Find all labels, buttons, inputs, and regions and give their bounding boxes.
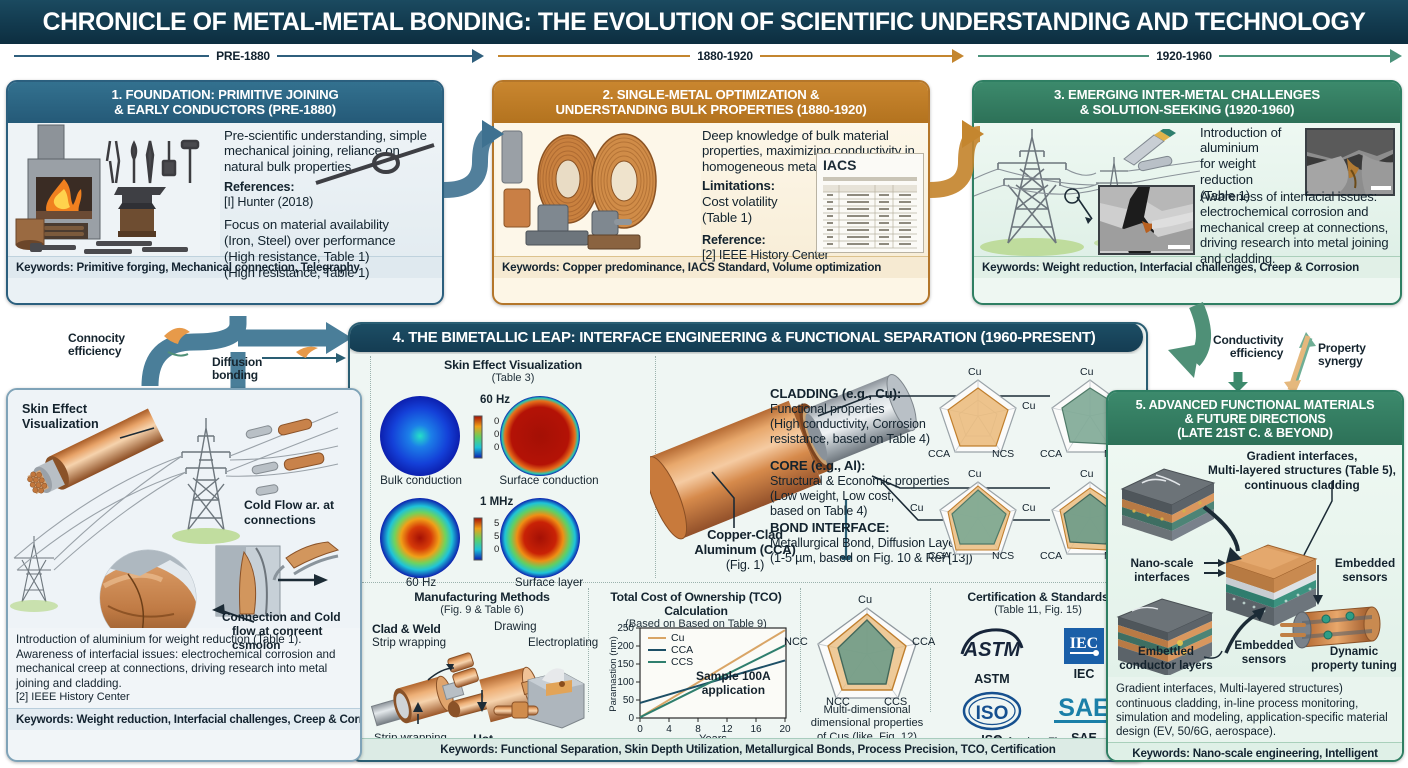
conn-lbl-l2: efficiency [68, 345, 125, 358]
panel5-header: 5. ADVANCED FUNCTIONAL MATERIALS & FUTUR… [1108, 392, 1402, 445]
iron-rod-ring-icon [314, 141, 444, 201]
panel2-title-line2: UNDERSTANDING BULK PROPERTIES (1880-1920… [500, 103, 922, 118]
panel3-intro-l2: aluminium [1200, 140, 1282, 156]
timeline-line [760, 55, 952, 57]
panel4-body: Skin Effect Visualization (Table 3) [350, 354, 1146, 736]
panel1-focus-l4: (High resistance, Table 1) [224, 265, 442, 281]
panel6-skin-l2: Visualization [22, 417, 132, 432]
iec-logo-icon: IEC [1062, 626, 1106, 666]
astm-logo-icon: ASTM [958, 626, 1026, 666]
aluminium-wire-icon [1120, 129, 1190, 177]
panel6-body-l4: joining and cladding. [16, 677, 352, 692]
panel5-label-nano-scale: Nano-scale interfaces [1120, 557, 1204, 585]
panel5-title-line3: (LATE 21ST C. & BEYOND) [1114, 426, 1396, 440]
panel1-header: 1. FOUNDATION: PRIMITIVE JOINING & EARLY… [8, 82, 442, 123]
radar-3-axis-cu-top: Cu [968, 468, 981, 480]
conn-lbl-l2: synergy [1318, 355, 1366, 368]
tco-annotation: Sample 100A application [696, 670, 771, 698]
radar-chart-3: Cu Cu CCA NCS [930, 474, 1026, 562]
radar-chart-1: Cu CCA NCS [930, 372, 1026, 460]
panel6-label-connection-cold-flow: Connection and Cold flow at conreent csm… [222, 610, 362, 652]
timeline-label: 1880-1920 [690, 49, 760, 63]
svg-text:250: 250 [617, 623, 634, 634]
multidim-cap-l1: Multi-dimensional [802, 704, 932, 717]
manufacturing-subtitle: (Fig. 9 & Table 6) [376, 604, 588, 616]
tco-annotation-l2: application [696, 684, 771, 698]
colorbar-2-tick-1: 5 [494, 531, 499, 542]
svg-text:Paramastion (nm): Paramastion (nm) [608, 636, 619, 712]
timeline-band: PRE-1880 1880-1920 1920-1960 [0, 44, 1408, 68]
sem-micrograph-corrosion-1 [1305, 128, 1395, 196]
panel5-emb-l1: Embedded [1226, 639, 1302, 653]
timeline-segment-1: PRE-1880 [14, 48, 484, 64]
panel3-intro-l1: Introduction of [1200, 125, 1282, 141]
panel6-conn-l2: flow at conreent csmoion [222, 624, 362, 652]
certification-badges: ASTM ASTM IEC IEC [946, 626, 1130, 747]
panel1-title-line1: 1. FOUNDATION: PRIMITIVE JOINING [14, 88, 436, 103]
iacs-label: IACS [817, 154, 923, 173]
panel3-awareness-text: Awareness of interfacial issues: electro… [1200, 189, 1396, 267]
panel3-intro-l4: reduction [1200, 172, 1282, 188]
panel2-title-line1: 2. SINGLE-METAL OPTIMIZATION & [500, 88, 922, 103]
radar-1-svg [930, 372, 1026, 460]
svg-text:ISO: ISO [976, 703, 1009, 724]
skin-caption-60hz: 60 Hz [376, 576, 466, 589]
timeline-arrow-icon [952, 49, 964, 63]
panel6-label-skin-effect: Skin Effect Visualization [22, 402, 132, 432]
svg-text:50: 50 [623, 695, 635, 706]
radar-4-axis-cca: CCA [1040, 550, 1062, 562]
multidim-axis-cu: Cu [858, 594, 872, 606]
page-title-bar: CHRONICLE OF METAL-METAL BONDING: THE EV… [0, 0, 1408, 44]
multidim-radar-svg [806, 598, 928, 706]
connector-label-diffusion-bonding: Diffusion bonding [212, 356, 262, 383]
panel5-body-text: Gradient interfaces, Multi-layered struc… [1108, 677, 1402, 742]
panel-emerging-inter-metal-challenges: 3. EMERGING INTER-METAL CHALLENGES & SOL… [972, 80, 1402, 305]
multidim-axis-cca: CCA [912, 636, 935, 648]
sem-micrograph-corrosion-2 [1098, 185, 1195, 255]
radar-3-svg [930, 474, 1026, 562]
radar-2-axis-cca: CCA [1040, 448, 1062, 460]
connector-label-conductivity-efficiency-right: Conductivity efficiency [1213, 334, 1283, 361]
panel3-header: 3. EMERGING INTER-METAL CHALLENGES & SOL… [974, 82, 1400, 123]
panel5-body: Gradient interfaces, Multi-layered struc… [1108, 445, 1402, 677]
panel5-label-embedded-sensors-right: Embedded sensors [1326, 557, 1404, 585]
panel-single-metal-optimization: 2. SINGLE-METAL OPTIMIZATION & UNDERSTAN… [492, 80, 930, 305]
timeline-line [498, 55, 690, 57]
panel4-divider-vertical-3 [588, 588, 589, 712]
radar-2-axis-cu-left: Cu [1022, 400, 1035, 412]
panel-advanced-functional-materials: 5. ADVANCED FUNCTIONAL MATERIALS & FUTUR… [1106, 390, 1404, 762]
panel4-divider-vertical-5 [930, 588, 931, 712]
panel4-keywords: Keywords: Functional Separation, Skin De… [350, 738, 1146, 760]
blacksmith-forge-illustration [10, 123, 220, 256]
timeline-line [978, 55, 1149, 57]
svg-text:IEC: IEC [1070, 635, 1098, 652]
panel6-body-ref: [2] IEEE History Center [16, 691, 352, 705]
timeline-label: 1920-1960 [1149, 49, 1219, 63]
panel5-nano-l1: Nano-scale [1120, 557, 1204, 571]
panel5-keywords-l1: Keywords: Nano-scale engineering, Intell… [1116, 747, 1394, 762]
panel6-skin-l1: Skin Effect [22, 402, 132, 417]
radar-3-axis-cca: CCA [928, 550, 950, 562]
panel5-embcond-l2: conductor layers [1114, 659, 1218, 673]
svg-text:4: 4 [666, 724, 672, 735]
manufacturing-section: Manufacturing Methods (Fig. 9 & Table 6) [376, 590, 588, 616]
panel5-emb-l2: sensors [1226, 653, 1302, 667]
colorbar-1-tick-2: 0 [494, 442, 499, 453]
svg-text:ASTM: ASTM [963, 639, 1022, 661]
conn-lbl-l1: Conductivity [1213, 334, 1283, 347]
tco-annotation-l1: Sample 100A [696, 670, 771, 684]
timeline-label: PRE-1880 [209, 49, 277, 63]
sem-image-1 [1307, 130, 1395, 196]
conn-lbl-l2: efficiency [1213, 347, 1283, 360]
panel-bimetallic-leap: 4. THE BIMETALLIC LEAP: INTERFACE ENGINE… [348, 322, 1148, 762]
skin-effect-section: Skin Effect Visualization (Table 3) [378, 358, 648, 384]
svg-text:16: 16 [750, 724, 762, 735]
panel3-title-line1: 3. EMERGING INTER-METAL CHALLENGES [980, 88, 1394, 103]
panel4-divider-vertical-1 [370, 356, 371, 578]
conn-lbl-l1: Diffusion [212, 356, 262, 369]
panel5-label-dynamic-tuning: Dynamic property tuning [1304, 645, 1404, 672]
panel4-divider-vertical-4 [800, 588, 801, 712]
panel1-title-line2: & EARLY CONDUCTORS (PRE-1880) [14, 103, 436, 118]
radar-1-axis-cca: CCA [928, 448, 950, 460]
timeline-arrow-icon [472, 49, 484, 63]
panel-skin-effect-cold-flow: Skin Effect Visualization Cold Flow ar. … [6, 388, 362, 762]
multidim-axis-ncc-left: NCC [784, 636, 808, 648]
timeline-line [14, 55, 209, 57]
copper-coil-generator-illustration [496, 123, 701, 256]
mfg-label-strip-wrapping: Strip wrapping [372, 636, 446, 649]
colorbar-1-tick-1: 0 [494, 429, 499, 440]
panel5-keywords: Keywords: Nano-scale engineering, Intell… [1108, 742, 1402, 762]
panel3-body: Introduction of aluminium for weight red… [974, 123, 1400, 256]
panel1-body: Pre-scientific understanding, simple mec… [8, 123, 442, 256]
conn-lbl-l1: Property [1318, 342, 1366, 355]
radar-1-axis-cu: Cu [968, 366, 981, 378]
panel6-body-l3: mechanical creep at connections, driving… [16, 662, 352, 677]
panel3-title-line2: & SOLUTION-SEEKING (1920-1960) [980, 103, 1394, 118]
svg-text:Cu: Cu [671, 632, 685, 644]
panel-foundation-primitive-joining: 1. FOUNDATION: PRIMITIVE JOINING & EARLY… [6, 80, 444, 305]
page-title: CHRONICLE OF METAL-METAL BONDING: THE EV… [43, 8, 1366, 37]
svg-text:200: 200 [617, 641, 634, 652]
skin-effect-subtitle: (Table 3) [378, 372, 648, 384]
panel5-emb-r-l2: sensors [1326, 571, 1404, 585]
conn-lbl-l1: Connocity [68, 332, 125, 345]
multidim-cap-l2: dimensional properties [802, 717, 932, 730]
panel1-focus-l1: Focus on material availability [224, 217, 442, 233]
radar-4-axis-cu-left: Cu [1022, 502, 1035, 514]
timeline-line [277, 55, 472, 57]
panel2-body: Deep knowledge of bulk material properti… [494, 123, 928, 256]
svg-text:SAE: SAE [1058, 694, 1109, 722]
svg-text:CCS: CCS [671, 656, 693, 668]
svg-text:0: 0 [628, 713, 634, 724]
panel5-dyn-l2: property tuning [1304, 659, 1404, 673]
tco-title: Total Cost of Ownership (TCO) Calculatio… [596, 590, 796, 618]
iso-logo-icon: ISO [961, 690, 1023, 732]
conn-lbl-l2: bonding [212, 369, 262, 382]
panel6-keywords: Keywords: Weight reduction, Interfacial … [8, 708, 360, 730]
panel5-label-embedded-sensors: Embedded sensors [1226, 639, 1302, 666]
panel6-cold-l2: connections [244, 513, 360, 528]
multidim-radar-chart: Cu CCA CCS NCC NCC [806, 598, 928, 706]
svg-text:0: 0 [637, 724, 643, 735]
panel6-label-cold-flow: Cold Flow ar. at connections [244, 498, 360, 527]
panel5-label-embedded-conductor-layers: Embettled conductor layers [1114, 645, 1218, 672]
panel5-embcond-l1: Embettled [1114, 645, 1218, 659]
panel5-nano-l2: interfaces [1120, 571, 1204, 585]
panel5-title-line1: 5. ADVANCED FUNCTIONAL MATERIALS [1114, 398, 1396, 412]
radar-1-axis-ncs: NCS [992, 448, 1014, 460]
connector-label-property-synergy: Property synergy [1318, 342, 1366, 369]
colorbar-2: 1 MHz 5 5 0 [480, 496, 513, 508]
panel5-title-line2: & FUTURE DIRECTIONS [1114, 412, 1396, 426]
panel4-title: 4. THE BIMETALLIC LEAP: INTERFACE ENGINE… [348, 322, 1143, 352]
timeline-segment-3: 1920-1960 [978, 48, 1402, 64]
mfg-label-clad-weld: Clad & Weld [372, 622, 441, 636]
timeline-line [1219, 55, 1390, 57]
panel6-cold-l1: Cold Flow ar. at [244, 498, 360, 513]
sem-image-2 [1100, 187, 1195, 255]
skin-caption-surface-layer: Surface layer [494, 576, 604, 589]
mfg-label-electroplating-top: Electroplating [528, 636, 598, 649]
panel1-focus-l3: (High resistance, Table 1) [224, 249, 442, 265]
panel6-conn-l1: Connection and Cold [222, 610, 362, 624]
manufacturing-illustration [366, 650, 588, 732]
timeline-segment-2: 1880-1920 [498, 48, 964, 64]
panel3-intro-l3: for weight [1200, 156, 1282, 172]
panel5-emb-r-l1: Embedded [1326, 557, 1404, 571]
panel5-dyn-l1: Dynamic [1304, 645, 1404, 659]
panel6-body: Skin Effect Visualization Cold Flow ar. … [8, 390, 360, 628]
skin-effect-title: Skin Effect Visualization [378, 358, 648, 372]
radar-3-axis-cu-left: Cu [910, 502, 923, 514]
colorbar-2-tick-0: 5 [494, 518, 499, 529]
radar-2-axis-cu-top: Cu [1080, 366, 1093, 378]
panel1-focus-l2: (Iron, Steel) over performance [224, 233, 442, 249]
mfg-label-drawing: Drawing [494, 620, 537, 633]
svg-text:20: 20 [779, 724, 791, 735]
colorbar-2-tick-2: 0 [494, 544, 499, 555]
svg-text:CCA: CCA [671, 644, 693, 656]
radar-4-axis-cu-top: Cu [1080, 468, 1093, 480]
svg-text:100: 100 [617, 677, 634, 688]
skin-effect-plots [374, 392, 652, 592]
colorbar-1-label: 60 Hz [480, 394, 510, 406]
cert-label-astm: ASTM [955, 672, 1029, 686]
colorbar-1-tick-0: 0 [494, 416, 499, 427]
colorbar-2-label: 1 MHz [480, 496, 513, 508]
manufacturing-title: Manufacturing Methods [376, 590, 588, 604]
timeline-arrow-icon [1390, 49, 1402, 63]
radar-3-axis-ncs: NCS [992, 550, 1014, 562]
iacs-table-rows [817, 173, 923, 251]
panel2-header: 2. SINGLE-METAL OPTIMIZATION & UNDERSTAN… [494, 82, 928, 123]
skin-caption-surface-conduction: Surface conduction [490, 474, 608, 487]
skin-caption-bulk-conduction: Bulk conduction [376, 474, 466, 487]
iacs-standard-table: IACS [816, 153, 924, 253]
cert-badge-astm: ASTM ASTM [955, 626, 1029, 686]
svg-text:150: 150 [617, 659, 634, 670]
colorbar-1: 60 Hz 0 0 0 [480, 394, 510, 406]
infographic-root: CHRONICLE OF METAL-METAL BONDING: THE EV… [0, 0, 1408, 768]
connector-label-conductivity-efficiency-left: Connocity efficiency [68, 332, 125, 359]
